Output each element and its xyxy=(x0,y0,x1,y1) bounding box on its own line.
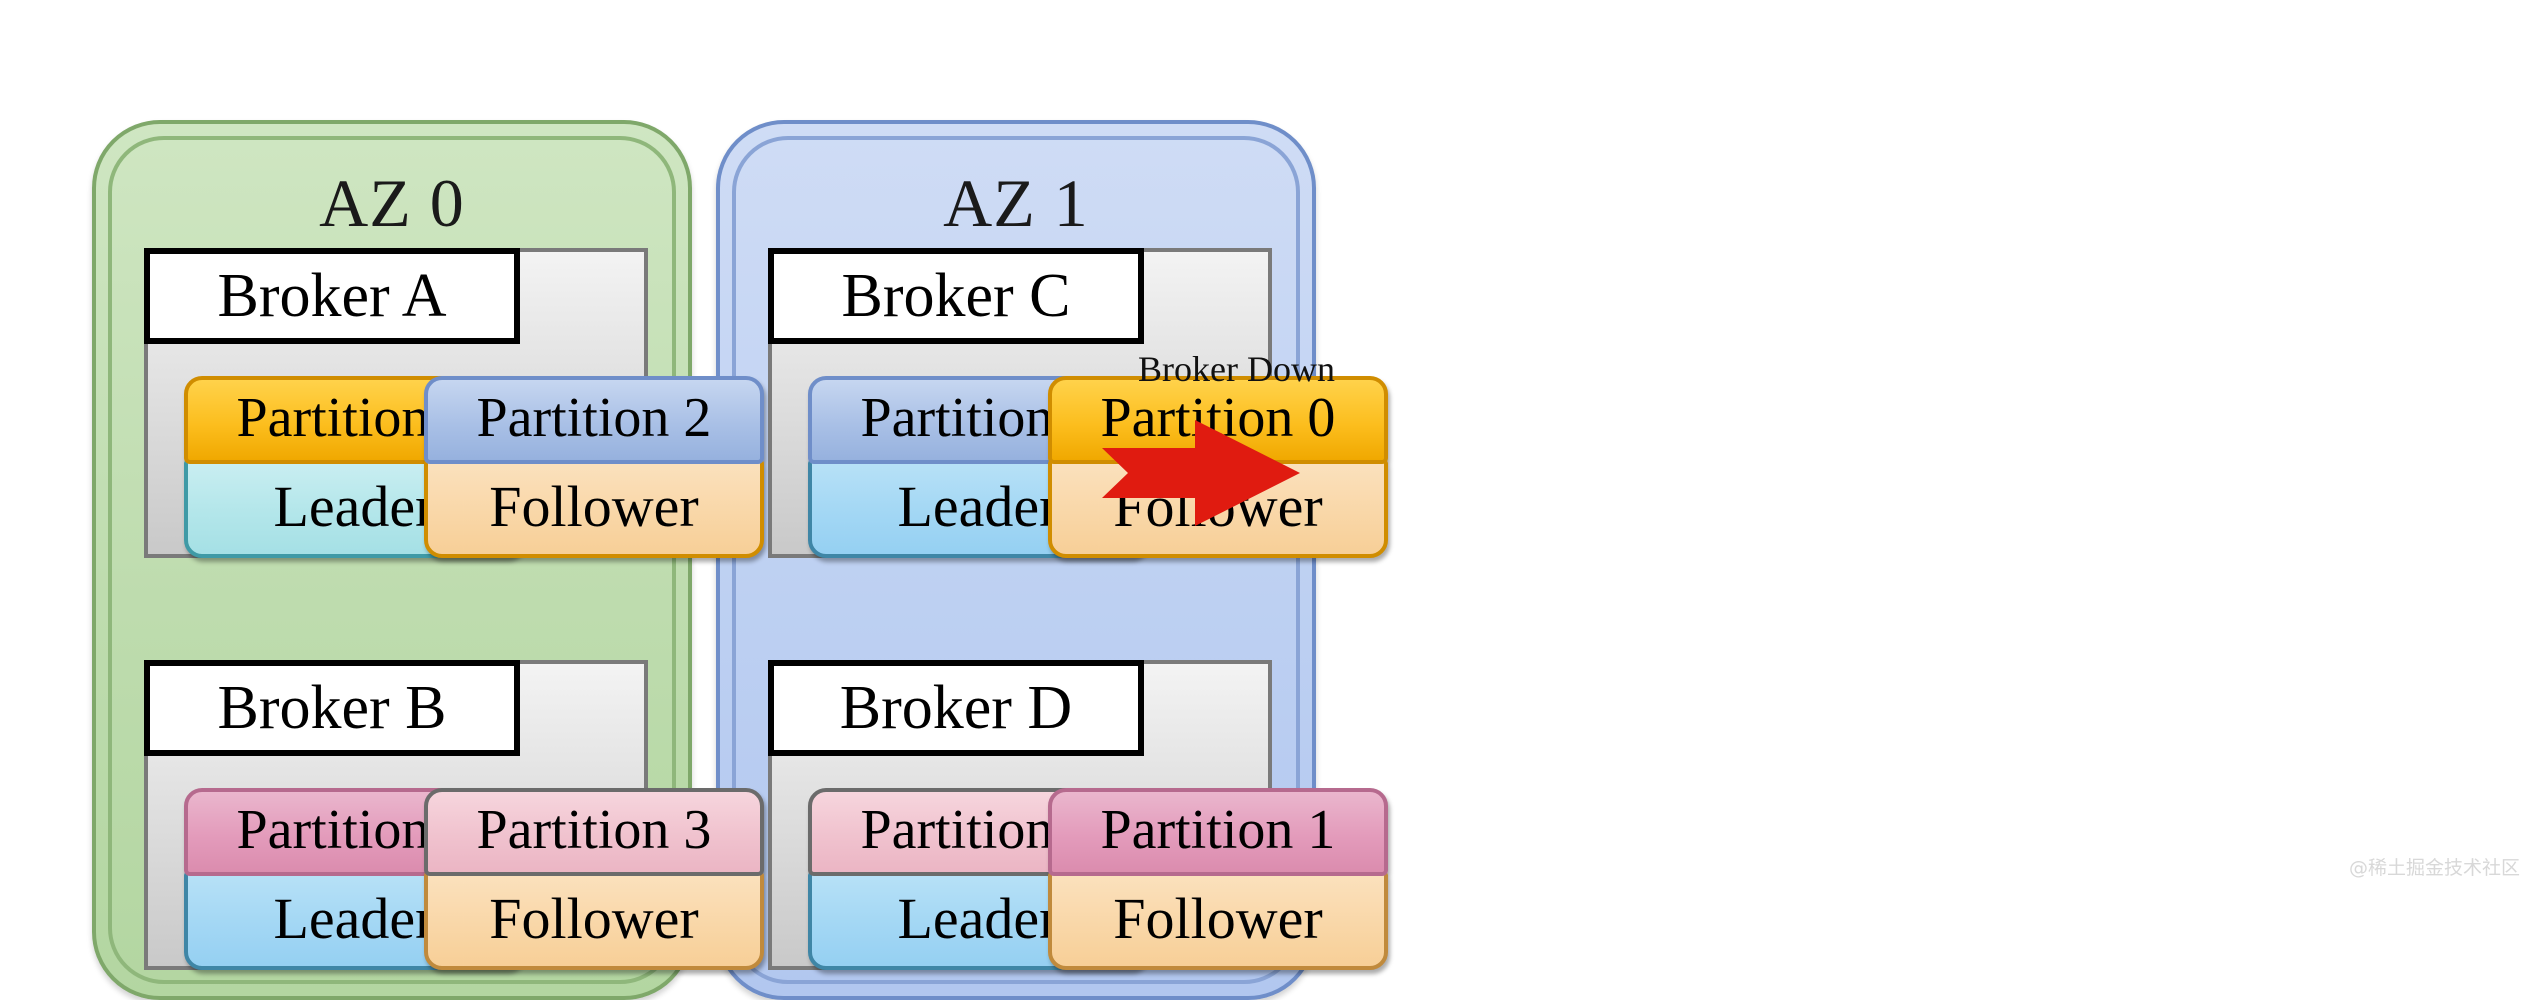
transition-label: Broker Down xyxy=(1138,348,1335,390)
partition-cell[interactable]: Partition 2Follower xyxy=(424,376,764,558)
partition-role: Follower xyxy=(424,458,764,558)
partition-cell[interactable]: Partition 3Follower xyxy=(424,788,764,970)
availability-zone: AZ 0Broker APartition 0LeaderPartition 2… xyxy=(92,120,692,1000)
broker-name: Broker B xyxy=(144,660,520,756)
zone-title: AZ 1 xyxy=(720,168,1312,244)
broker-box[interactable]: Broker BPartition 1LeaderPartition 3Foll… xyxy=(144,660,648,970)
diagram-canvas: AZ 0Broker APartition 0LeaderPartition 2… xyxy=(0,0,2536,890)
right-arrow-icon xyxy=(1100,418,1380,533)
broker-name: Broker A xyxy=(144,248,520,344)
partition-label: Partition 1 xyxy=(1048,788,1388,876)
partition-label: Partition 2 xyxy=(424,376,764,464)
watermark: @稀土掘金技术社区 xyxy=(2349,853,2520,880)
broker-box[interactable]: Broker APartition 0LeaderPartition 2Foll… xyxy=(144,248,648,558)
availability-zone: AZ 1Broker CPartition 2LeaderPartition 0… xyxy=(716,120,1316,1000)
broker-name: Broker C xyxy=(768,248,1144,344)
broker-name: Broker D xyxy=(768,660,1144,756)
partition-role: Follower xyxy=(1048,870,1388,970)
partition-role: Follower xyxy=(424,870,764,970)
partition-cell[interactable]: Partition 1Follower xyxy=(1048,788,1388,970)
zone-title: AZ 0 xyxy=(96,168,688,244)
partition-label: Partition 3 xyxy=(424,788,764,876)
broker-box[interactable]: Broker DPartition 3LeaderPartition 1Foll… xyxy=(768,660,1272,970)
